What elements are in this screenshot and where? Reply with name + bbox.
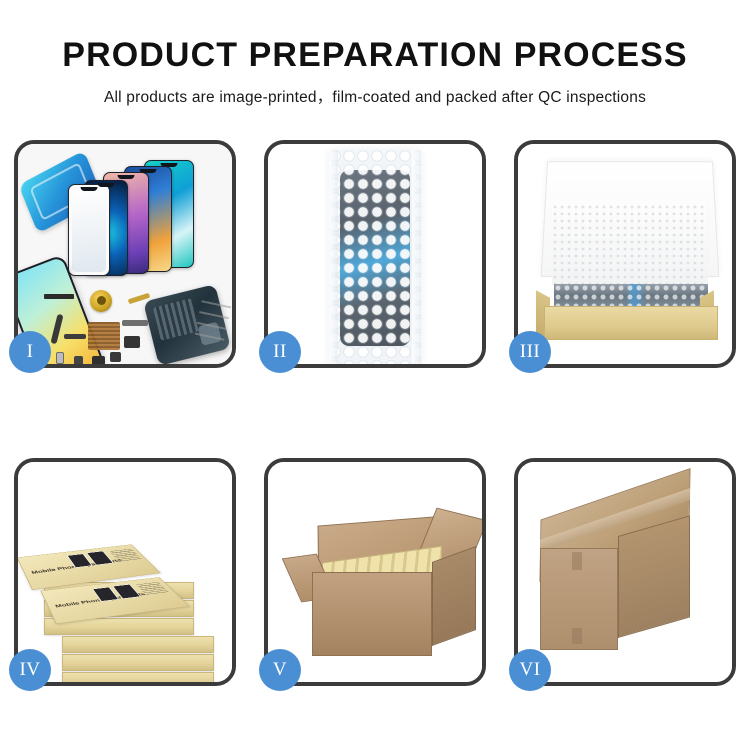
retail-box-edge xyxy=(62,672,214,682)
step-badge-3: III xyxy=(509,331,551,373)
carton-side-wall xyxy=(432,546,476,646)
sealed-carton-icon xyxy=(518,462,732,682)
bubble-wrap-bag xyxy=(329,150,421,364)
bubble-texture xyxy=(329,150,421,364)
open-carton-icon xyxy=(268,462,482,682)
small-part-icon xyxy=(92,356,105,364)
small-part-icon xyxy=(110,352,121,362)
process-step-panel-1: I xyxy=(14,140,236,368)
open-kraft-box-icon xyxy=(518,144,732,364)
retail-box-stack: Mobile Phone Spare Parts Mobile Phone Sp… xyxy=(22,478,232,678)
shipping-carton-sealed xyxy=(532,490,726,662)
phone-screen-icon xyxy=(68,184,110,276)
box-front-wall xyxy=(544,306,718,340)
step-badge-6: VI xyxy=(509,649,551,691)
process-step-panel-3: III xyxy=(514,140,736,368)
process-step-panel-4: Mobile Phone Spare Parts Mobile Phone Sp… xyxy=(14,458,236,686)
carton-seam-top xyxy=(572,552,582,570)
process-step-panel-5: V xyxy=(264,458,486,686)
bag-seam-left xyxy=(329,150,338,364)
flex-cable-icon xyxy=(64,334,86,339)
carton-right-face xyxy=(618,515,690,638)
flex-cable-icon xyxy=(122,320,148,326)
phone-parts-icon xyxy=(18,144,232,364)
carton-front-wall xyxy=(312,572,432,656)
chip-grid-part-icon xyxy=(88,322,120,350)
bubble-wrap-icon xyxy=(268,144,482,364)
product-preparation-infographic: PRODUCT PREPARATION PROCESS All products… xyxy=(0,0,750,750)
small-part-icon xyxy=(74,356,83,364)
retail-box-edge xyxy=(62,654,214,671)
header: PRODUCT PREPARATION PROCESS All products… xyxy=(0,36,750,107)
step-badge-1: I xyxy=(9,331,51,373)
small-part-icon xyxy=(124,336,140,348)
process-step-panel-6: VI xyxy=(514,458,736,686)
page-title: PRODUCT PREPARATION PROCESS xyxy=(0,36,750,74)
retail-box-edge xyxy=(62,636,214,653)
carton-seam-bottom xyxy=(572,628,582,644)
coil-part-icon xyxy=(90,290,112,312)
shipping-carton-open xyxy=(286,496,476,664)
speaker-mesh-icon xyxy=(44,294,74,299)
foam-liner xyxy=(552,204,708,286)
step-badge-2: II xyxy=(259,331,301,373)
stacked-boxes-icon: Mobile Phone Spare Parts Mobile Phone Sp… xyxy=(18,462,232,682)
step-badge-5: V xyxy=(259,649,301,691)
process-step-panel-2: II xyxy=(264,140,486,368)
sim-tray-icon xyxy=(56,352,64,364)
phone-fan-icon xyxy=(70,158,232,283)
step-badge-4: IV xyxy=(9,649,51,691)
bag-seam-right xyxy=(412,150,421,364)
process-step-grid: I II III xyxy=(14,140,736,686)
page-subtitle: All products are image-printed，film-coat… xyxy=(0,85,750,107)
